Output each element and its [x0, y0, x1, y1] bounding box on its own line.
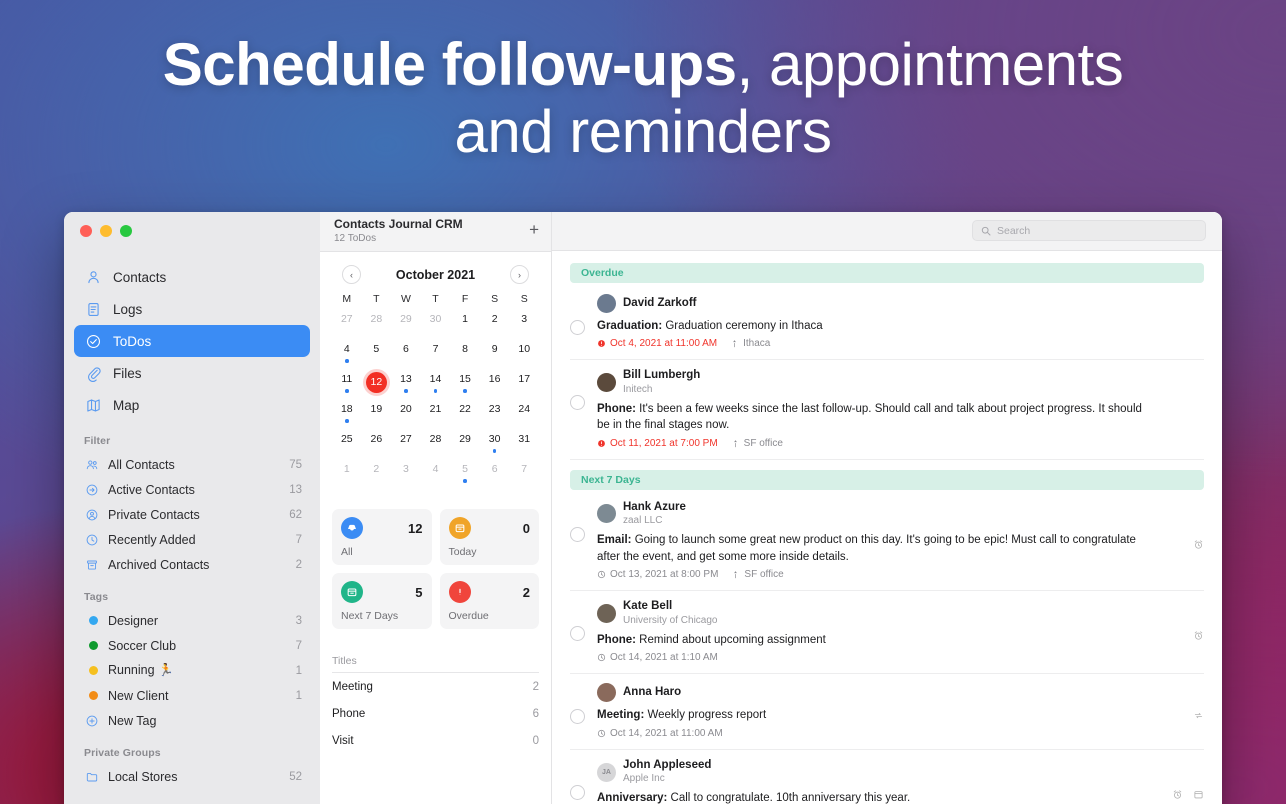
- avatar: [597, 683, 616, 702]
- calendar-day-number: 5: [455, 462, 475, 477]
- calendar-grid: MTWTFSS272829301234567891011121314151617…: [332, 293, 539, 489]
- tag-label: Running 🏃: [108, 663, 287, 678]
- calendar-day-number: 9: [485, 342, 505, 357]
- stat-label: Overdue: [449, 610, 531, 622]
- calendar-day-number: 6: [485, 462, 505, 477]
- plus-circle-icon: [84, 713, 99, 728]
- stat-card-top: 2: [449, 581, 531, 603]
- tags-section-label: Tags: [64, 577, 320, 608]
- calendar-day-number: 2: [366, 462, 386, 477]
- calendar-day-number: 10: [514, 342, 534, 357]
- todo-row[interactable]: Anna HaroMeeting: Weekly progress report…: [570, 674, 1204, 750]
- todo-meta: Oct 14, 2021 at 11:00 AM: [597, 728, 1154, 739]
- person-name: Hank Azure: [623, 501, 686, 514]
- avatar: [597, 504, 616, 523]
- person-org: Apple Inc: [623, 773, 711, 785]
- title-count: 6: [533, 708, 539, 720]
- tag-label: Designer: [108, 614, 287, 628]
- calendar-day-number: 13: [396, 372, 416, 387]
- calendar-day-number: 27: [337, 312, 357, 327]
- title-item-visit[interactable]: Visit0: [332, 727, 539, 754]
- todo-row[interactable]: David ZarkoffGraduation: Graduation cere…: [570, 285, 1204, 361]
- calendar-day[interactable]: 4: [332, 342, 362, 369]
- calendar-day[interactable]: 29: [450, 432, 480, 459]
- calendar-day[interactable]: 6: [391, 342, 421, 369]
- stat-count: 5: [415, 585, 422, 600]
- todo-text: Email: Going to launch some great new pr…: [597, 532, 1154, 565]
- calendar-day[interactable]: 21: [421, 402, 451, 429]
- calendar-day[interactable]: 22: [450, 402, 480, 429]
- person-name: John Appleseed: [623, 759, 711, 772]
- private-groups-list: Local Stores52: [64, 764, 320, 789]
- person-org: University of Chicago: [623, 615, 717, 627]
- person-name: Bill Lumbergh: [623, 369, 700, 382]
- stat-card-overdue[interactable]: 2Overdue: [440, 573, 540, 629]
- calendar-dow: S: [480, 293, 510, 309]
- todo-person[interactable]: David Zarkoff: [597, 294, 1154, 313]
- group-count: 52: [289, 771, 302, 783]
- overdue-icon: [597, 439, 606, 448]
- zoom-button[interactable]: [120, 225, 132, 237]
- map-icon: [84, 396, 102, 414]
- calendar-week-icon: [341, 581, 363, 603]
- clock-icon: [597, 729, 606, 738]
- todo-type: Phone:: [597, 403, 636, 415]
- filter-label: Recently Added: [108, 533, 287, 547]
- titles-section: Titles Meeting2Phone6Visit0: [320, 629, 551, 754]
- private-groups-section-label: Private Groups: [64, 733, 320, 764]
- calendar-day-number: 1: [337, 462, 357, 477]
- sidebar-item-logs[interactable]: Logs: [74, 293, 310, 325]
- filter-count: 75: [289, 459, 302, 471]
- todo-text: Phone: It's been a few weeks since the l…: [597, 401, 1154, 434]
- middle-panel-header: Contacts Journal CRM 12 ToDos +: [320, 212, 551, 252]
- tag-color-dot: [84, 613, 99, 628]
- todo-location: Ithaca: [730, 338, 770, 349]
- todo-text: Meeting: Weekly progress report: [597, 707, 1154, 724]
- todo-date: Oct 11, 2021 at 7:00 PM: [597, 438, 718, 449]
- person-name-block: David Zarkoff: [623, 297, 697, 310]
- title-count: 2: [533, 681, 539, 693]
- stat-card-top: 12: [341, 517, 423, 539]
- calendar-header: ‹ October 2021 ›: [332, 265, 539, 293]
- todo-content: Hank Azurezaal LLCEmail: Going to launch…: [597, 501, 1204, 581]
- tag-count: 3: [296, 615, 302, 627]
- sidebar-item-label: Map: [113, 398, 139, 413]
- close-button[interactable]: [80, 225, 92, 237]
- todo-row[interactable]: Bill LumberghInitechPhone: It's been a f…: [570, 360, 1204, 460]
- calendar-day-number: 21: [425, 402, 445, 417]
- calendar-day-number: 24: [514, 402, 534, 417]
- todo-location: SF office: [731, 438, 783, 449]
- calendar-prev-button[interactable]: ‹: [342, 265, 361, 284]
- todo-person[interactable]: Bill LumberghInitech: [597, 369, 1154, 395]
- calendar-day[interactable]: 27: [391, 432, 421, 459]
- main-header: Search: [552, 212, 1222, 251]
- calendar-day-number: 4: [337, 342, 357, 357]
- pin-icon: [731, 439, 740, 448]
- app-window: ContactsLogsToDosFilesMap Filter All Con…: [64, 212, 1222, 804]
- calendar-day[interactable]: 18: [332, 402, 362, 429]
- todo-person[interactable]: JAJohn AppleseedApple Inc: [597, 759, 1154, 785]
- filter-label: Archived Contacts: [108, 558, 287, 572]
- calendar-day-number: 17: [514, 372, 534, 387]
- todo-row[interactable]: JAJohn AppleseedApple IncAnniversary: Ca…: [570, 750, 1204, 804]
- calendar-event-dot: [345, 359, 349, 363]
- calendar-day-number: 6: [396, 342, 416, 357]
- clock-icon: [597, 653, 606, 662]
- calendar-day[interactable]: 14: [421, 372, 451, 399]
- title-label: Visit: [332, 735, 354, 747]
- calendar-event-dot: [493, 449, 497, 453]
- title-item-phone[interactable]: Phone6: [332, 700, 539, 727]
- tags-list: Designer3Soccer Club7Running 🏃1New Clien…: [64, 608, 320, 733]
- calendar-day[interactable]: 30: [421, 312, 451, 339]
- filter-label: All Contacts: [108, 458, 280, 472]
- calendar-day-number: 2: [485, 312, 505, 327]
- search-placeholder: Search: [997, 225, 1030, 237]
- calendar-day-number: 20: [396, 402, 416, 417]
- filter-list: All Contacts75Active Contacts13Private C…: [64, 452, 320, 577]
- repeat-icon[interactable]: [1193, 710, 1204, 721]
- todo-checkbox[interactable]: [570, 320, 585, 335]
- todo-text: Graduation: Graduation ceremony in Ithac…: [597, 318, 1154, 335]
- calendar-day-number: 31: [514, 432, 534, 447]
- todo-checkbox[interactable]: [570, 527, 585, 542]
- todo-row[interactable]: Hank Azurezaal LLCEmail: Going to launch…: [570, 492, 1204, 592]
- calendar-day-number: 14: [425, 372, 445, 387]
- clock-icon: [597, 570, 606, 579]
- todo-content: Anna HaroMeeting: Weekly progress report…: [597, 683, 1204, 739]
- calendar-day[interactable]: 10: [509, 342, 539, 369]
- calendar-day[interactable]: 15: [450, 372, 480, 399]
- filter-label: Active Contacts: [108, 483, 280, 497]
- stat-count: 0: [523, 521, 530, 536]
- calendar-day-number: 28: [425, 432, 445, 447]
- stat-card-next-7-days[interactable]: 5Next 7 Days: [332, 573, 432, 629]
- filter-item-recently-added[interactable]: Recently Added7: [64, 527, 320, 552]
- calendar-day[interactable]: 2: [362, 462, 392, 489]
- stat-count: 2: [523, 585, 530, 600]
- calendar-event-dot: [404, 389, 408, 393]
- headline-rest: , appointments: [737, 31, 1124, 98]
- main-panel: Search OverdueDavid ZarkoffGraduation: G…: [552, 212, 1222, 804]
- stat-label: Today: [449, 546, 531, 558]
- todo-meta: Oct 11, 2021 at 7:00 PMSF office: [597, 438, 1154, 449]
- tag-item-soccer-club[interactable]: Soccer Club7: [64, 633, 320, 658]
- person-name-block: Bill LumberghInitech: [623, 369, 700, 395]
- calendar: ‹ October 2021 › MTWTFSS2728293012345678…: [320, 252, 551, 489]
- todo-text: Anniversary: Call to congratulate. 10th …: [597, 790, 1154, 804]
- sidebar-item-label: Files: [113, 366, 142, 381]
- todo-location: SF office: [731, 569, 783, 580]
- stat-count: 12: [408, 521, 422, 536]
- sidebar-item-label: Contacts: [113, 270, 166, 285]
- calendar-event-dot: [463, 389, 467, 393]
- calendar-day[interactable]: 17: [509, 372, 539, 399]
- window-traffic-lights: [64, 212, 320, 252]
- calendar-day-number: 18: [337, 402, 357, 417]
- filter-label: Private Contacts: [108, 508, 280, 522]
- pin-icon: [731, 570, 740, 579]
- tag-color-dot: [84, 688, 99, 703]
- calendar-day[interactable]: 31: [509, 432, 539, 459]
- todo-row-icons: [1172, 789, 1204, 800]
- calendar-day-number: 15: [455, 372, 475, 387]
- todo-type: Graduation:: [597, 320, 662, 332]
- person-name: David Zarkoff: [623, 297, 697, 310]
- tag-label: New Client: [108, 689, 287, 703]
- calendar-dow: T: [362, 293, 392, 309]
- calendar-day-number: 3: [514, 312, 534, 327]
- calendar-event-dot: [345, 389, 349, 393]
- calendar-day[interactable]: 13: [391, 372, 421, 399]
- person-circle-icon: [84, 507, 99, 522]
- filter-item-archived-contacts[interactable]: Archived Contacts2: [64, 552, 320, 577]
- calendar-day-number: 26: [366, 432, 386, 447]
- calendar-day-number: 30: [425, 312, 445, 327]
- todo-date: Oct 4, 2021 at 11:00 AM: [597, 338, 717, 349]
- todo-person[interactable]: Hank Azurezaal LLC: [597, 501, 1154, 527]
- calendar-icon[interactable]: [1193, 789, 1204, 800]
- sidebar-nav: ContactsLogsToDosFilesMap: [64, 252, 320, 421]
- todo-date: Oct 13, 2021 at 8:00 PM: [597, 569, 718, 580]
- calendar-day[interactable]: 25: [332, 432, 362, 459]
- calendar-day-number: 12: [366, 372, 387, 393]
- filter-item-all-contacts[interactable]: All Contacts75: [64, 452, 320, 477]
- person-name-block: John AppleseedApple Inc: [623, 759, 711, 785]
- add-todo-button[interactable]: +: [529, 217, 539, 238]
- people-icon: [84, 457, 99, 472]
- tag-color-dot: [84, 638, 99, 653]
- titles-label: Titles: [332, 655, 539, 673]
- sidebar-item-files[interactable]: Files: [74, 357, 310, 389]
- arrow-circle-icon: [84, 482, 99, 497]
- app-title: Contacts Journal CRM: [334, 217, 463, 232]
- sidebar-item-label: Logs: [113, 302, 142, 317]
- calendar-day[interactable]: 7: [421, 342, 451, 369]
- calendar-month-label: October 2021: [396, 268, 475, 282]
- todo-count-subtitle: 12 ToDos: [334, 233, 463, 244]
- alarm-icon[interactable]: [1193, 539, 1204, 550]
- todo-meta: Oct 14, 2021 at 1:10 AM: [597, 652, 1154, 663]
- filter-count: 7: [296, 534, 302, 546]
- todo-checkbox[interactable]: [570, 785, 585, 800]
- calendar-day-number: 22: [455, 402, 475, 417]
- calendar-day[interactable]: 3: [509, 312, 539, 339]
- calendar-day-number: 19: [366, 402, 386, 417]
- todo-row-icons: [1193, 710, 1204, 721]
- todo-type: Email:: [597, 534, 632, 546]
- todo-list: OverdueDavid ZarkoffGraduation: Graduati…: [552, 251, 1222, 804]
- person-org: zaal LLC: [623, 515, 686, 527]
- calendar-event-dot: [345, 419, 349, 423]
- calendar-day[interactable]: 28: [362, 312, 392, 339]
- calendar-day[interactable]: 1: [332, 462, 362, 489]
- document-icon: [84, 300, 102, 318]
- todo-row-icons: [1193, 539, 1204, 550]
- tag-item-new-client[interactable]: New Client1: [64, 683, 320, 708]
- avatar: [597, 373, 616, 392]
- calendar-day[interactable]: 23: [480, 402, 510, 429]
- sidebar-item-contacts[interactable]: Contacts: [74, 261, 310, 293]
- calendar-day[interactable]: 9: [480, 342, 510, 369]
- calendar-event-dot: [434, 389, 438, 393]
- avatar: [597, 294, 616, 313]
- todo-content: David ZarkoffGraduation: Graduation cere…: [597, 294, 1204, 350]
- alarm-icon[interactable]: [1172, 789, 1183, 800]
- stat-cards: 12All0Today5Next 7 Days2Overdue: [320, 489, 551, 629]
- calendar-day[interactable]: 28: [421, 432, 451, 459]
- pin-icon: [730, 339, 739, 348]
- tag-item-designer[interactable]: Designer3: [64, 608, 320, 633]
- calendar-day[interactable]: 29: [391, 312, 421, 339]
- headline-line-2: and reminders: [0, 101, 1286, 162]
- calendar-day-number: 7: [514, 462, 534, 477]
- calendar-day[interactable]: 19: [362, 402, 392, 429]
- sidebar: ContactsLogsToDosFilesMap Filter All Con…: [64, 212, 320, 804]
- stat-card-all[interactable]: 12All: [332, 509, 432, 565]
- avatar: JA: [597, 763, 616, 782]
- todo-row-icons: [1193, 630, 1204, 641]
- sidebar-item-map[interactable]: Map: [74, 389, 310, 421]
- stat-card-today[interactable]: 0Today: [440, 509, 540, 565]
- middle-panel: Contacts Journal CRM 12 ToDos + ‹ Octobe…: [320, 212, 552, 804]
- todo-date: Oct 14, 2021 at 1:10 AM: [597, 652, 718, 663]
- inbox-icon: [341, 517, 363, 539]
- title-label: Phone: [332, 708, 365, 720]
- calendar-day-number: 11: [337, 372, 357, 387]
- avatar: [597, 604, 616, 623]
- title-count: 0: [533, 735, 539, 747]
- calendar-day-number: 29: [396, 312, 416, 327]
- calendar-day[interactable]: 26: [362, 432, 392, 459]
- group-item-local-stores[interactable]: Local Stores52: [64, 764, 320, 789]
- check-circle-icon: [84, 332, 102, 350]
- stat-card-top: 0: [449, 517, 531, 539]
- archive-icon: [84, 557, 99, 572]
- titles-list: Meeting2Phone6Visit0: [332, 673, 539, 754]
- person-name-block: Hank Azurezaal LLC: [623, 501, 686, 527]
- calendar-event-dot: [463, 479, 467, 483]
- todo-type: Meeting:: [597, 709, 644, 721]
- todo-date: Oct 14, 2021 at 11:00 AM: [597, 728, 723, 739]
- minimize-button[interactable]: [100, 225, 112, 237]
- calendar-day[interactable]: 20: [391, 402, 421, 429]
- calendar-day[interactable]: 8: [450, 342, 480, 369]
- tag-color-dot: [84, 663, 99, 678]
- calendar-day[interactable]: 24: [509, 402, 539, 429]
- calendar-day[interactable]: 12: [362, 372, 392, 399]
- headline-line-1: Schedule follow-ups, appointments: [0, 34, 1286, 95]
- todo-checkbox[interactable]: [570, 709, 585, 724]
- person-name-block: Anna Haro: [623, 686, 681, 699]
- calendar-day-number: 7: [425, 342, 445, 357]
- todo-type: Phone:: [597, 634, 636, 646]
- todo-checkbox[interactable]: [570, 395, 585, 410]
- todo-text: Phone: Remind about upcoming assignment: [597, 632, 1154, 649]
- filter-item-private-contacts[interactable]: Private Contacts62: [64, 502, 320, 527]
- calendar-day[interactable]: 6: [480, 462, 510, 489]
- todo-content: Bill LumberghInitechPhone: It's been a f…: [597, 369, 1204, 449]
- calendar-day-number: 29: [455, 432, 475, 447]
- todo-meta: Oct 13, 2021 at 8:00 PMSF office: [597, 569, 1154, 580]
- marketing-headline: Schedule follow-ups, appointments and re…: [0, 34, 1286, 162]
- filter-count: 13: [289, 484, 302, 496]
- calendar-day[interactable]: 3: [391, 462, 421, 489]
- search-icon: [981, 226, 991, 236]
- calendar-day[interactable]: 5: [450, 462, 480, 489]
- person-name-block: Kate BellUniversity of Chicago: [623, 600, 717, 626]
- calendar-dow: M: [332, 293, 362, 309]
- calendar-day[interactable]: 1: [450, 312, 480, 339]
- paperclip-icon: [84, 364, 102, 382]
- sidebar-item-label: ToDos: [113, 334, 151, 349]
- calendar-dow: T: [421, 293, 451, 309]
- calendar-day-number: 23: [485, 402, 505, 417]
- tag-count: 7: [296, 640, 302, 652]
- todo-row[interactable]: Kate BellUniversity of ChicagoPhone: Rem…: [570, 591, 1204, 674]
- group-label: Local Stores: [108, 770, 280, 784]
- todo-person[interactable]: Anna Haro: [597, 683, 1154, 702]
- calendar-day[interactable]: 27: [332, 312, 362, 339]
- calendar-day[interactable]: 7: [509, 462, 539, 489]
- calendar-day-number: 25: [337, 432, 357, 447]
- section-header-overdue: Overdue: [570, 263, 1204, 283]
- folder-icon: [84, 769, 99, 784]
- tag-label: New Tag: [108, 714, 293, 728]
- calendar-day-number: 8: [455, 342, 475, 357]
- calendar-day[interactable]: 5: [362, 342, 392, 369]
- todo-type: Anniversary:: [597, 792, 667, 804]
- calendar-day[interactable]: 11: [332, 372, 362, 399]
- calendar-day[interactable]: 4: [421, 462, 451, 489]
- alarm-icon[interactable]: [1193, 630, 1204, 641]
- person-name: Anna Haro: [623, 686, 681, 699]
- calendar-day[interactable]: 2: [480, 312, 510, 339]
- todo-content: JAJohn AppleseedApple IncAnniversary: Ca…: [597, 759, 1204, 804]
- filter-item-active-contacts[interactable]: Active Contacts13: [64, 477, 320, 502]
- person-icon: [84, 268, 102, 286]
- calendar-day-number: 30: [485, 432, 505, 447]
- todo-checkbox[interactable]: [570, 626, 585, 641]
- calendar-day-number: 16: [485, 372, 505, 387]
- calendar-day-number: 3: [396, 462, 416, 477]
- calendar-day-number: 27: [396, 432, 416, 447]
- calendar-day[interactable]: 16: [480, 372, 510, 399]
- tag-count: 1: [296, 690, 302, 702]
- person-org: Initech: [623, 384, 700, 396]
- calendar-day[interactable]: 30: [480, 432, 510, 459]
- tag-count: 1: [296, 665, 302, 677]
- stat-card-top: 5: [341, 581, 423, 603]
- sidebar-item-todos[interactable]: ToDos: [74, 325, 310, 357]
- tag-item-running[interactable]: Running 🏃1: [64, 658, 320, 683]
- stat-label: Next 7 Days: [341, 610, 423, 622]
- todo-person[interactable]: Kate BellUniversity of Chicago: [597, 600, 1154, 626]
- filter-count: 62: [289, 509, 302, 521]
- search-input[interactable]: Search: [972, 220, 1206, 241]
- headline-bold: Schedule follow-ups: [163, 31, 737, 98]
- title-item-meeting[interactable]: Meeting2: [332, 673, 539, 700]
- alert-icon: [449, 581, 471, 603]
- calendar-next-button[interactable]: ›: [510, 265, 529, 284]
- filter-section-label: Filter: [64, 421, 320, 452]
- person-name: Kate Bell: [623, 600, 717, 613]
- overdue-icon: [597, 339, 606, 348]
- tag-item-new-tag[interactable]: New Tag: [64, 708, 320, 733]
- calendar-day-number: 1: [455, 312, 475, 327]
